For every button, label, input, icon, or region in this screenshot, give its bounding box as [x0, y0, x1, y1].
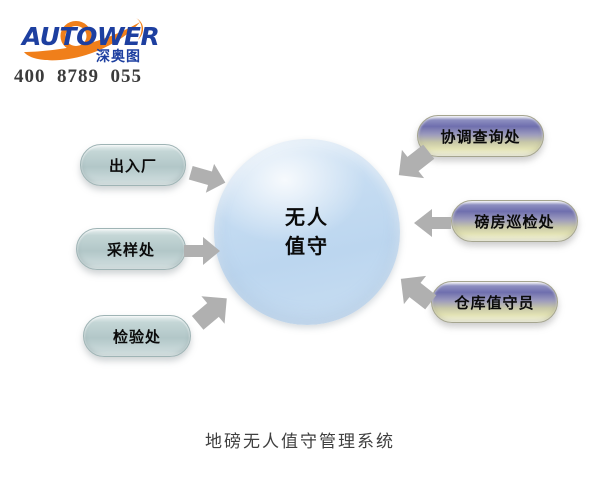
- node-left-inspection[interactable]: 检验处: [83, 315, 191, 357]
- arrow-left-inspection-to-center: [190, 288, 236, 332]
- brand-logo: AUTOWER 深奥图: [14, 12, 164, 64]
- logo-subtext: 深奥图: [96, 48, 141, 64]
- logo-wordmark: AUTOWER: [20, 22, 159, 51]
- center-node-unattended[interactable]: 无人 值守: [214, 139, 400, 325]
- autower-logo-svg: AUTOWER 深奥图: [14, 12, 164, 64]
- arrow-center-to-warehouse-keeper: [392, 268, 438, 312]
- node-right-coordination[interactable]: 协调查询处: [417, 115, 544, 157]
- node-left-sampling-label: 采样处: [107, 239, 155, 260]
- arrow-left-sampling-to-center: [182, 234, 224, 268]
- node-right-warehouse-keeper-label: 仓库值守员: [454, 292, 534, 313]
- node-right-weighroom-patrol-label: 磅房巡检处: [474, 211, 554, 232]
- arrow-left-entry-exit-to-center: [188, 160, 230, 196]
- node-right-warehouse-keeper[interactable]: 仓库值守员: [431, 281, 558, 323]
- node-right-weighroom-patrol[interactable]: 磅房巡检处: [451, 200, 578, 242]
- node-left-entry-exit[interactable]: 出入厂: [80, 144, 186, 186]
- arrow-center-to-weighroom-patrol: [410, 206, 454, 240]
- arrow-center-to-coordination: [390, 142, 436, 186]
- node-right-coordination-label: 协调查询处: [440, 126, 520, 147]
- node-left-entry-exit-label: 出入厂: [109, 155, 157, 176]
- node-left-inspection-label: 检验处: [113, 326, 161, 347]
- center-node-label: 无人 值守: [285, 203, 329, 261]
- diagram-caption: 地磅无人值守管理系统: [0, 427, 600, 452]
- node-left-sampling[interactable]: 采样处: [76, 228, 186, 270]
- phone-number: 400 8789 055: [14, 66, 142, 88]
